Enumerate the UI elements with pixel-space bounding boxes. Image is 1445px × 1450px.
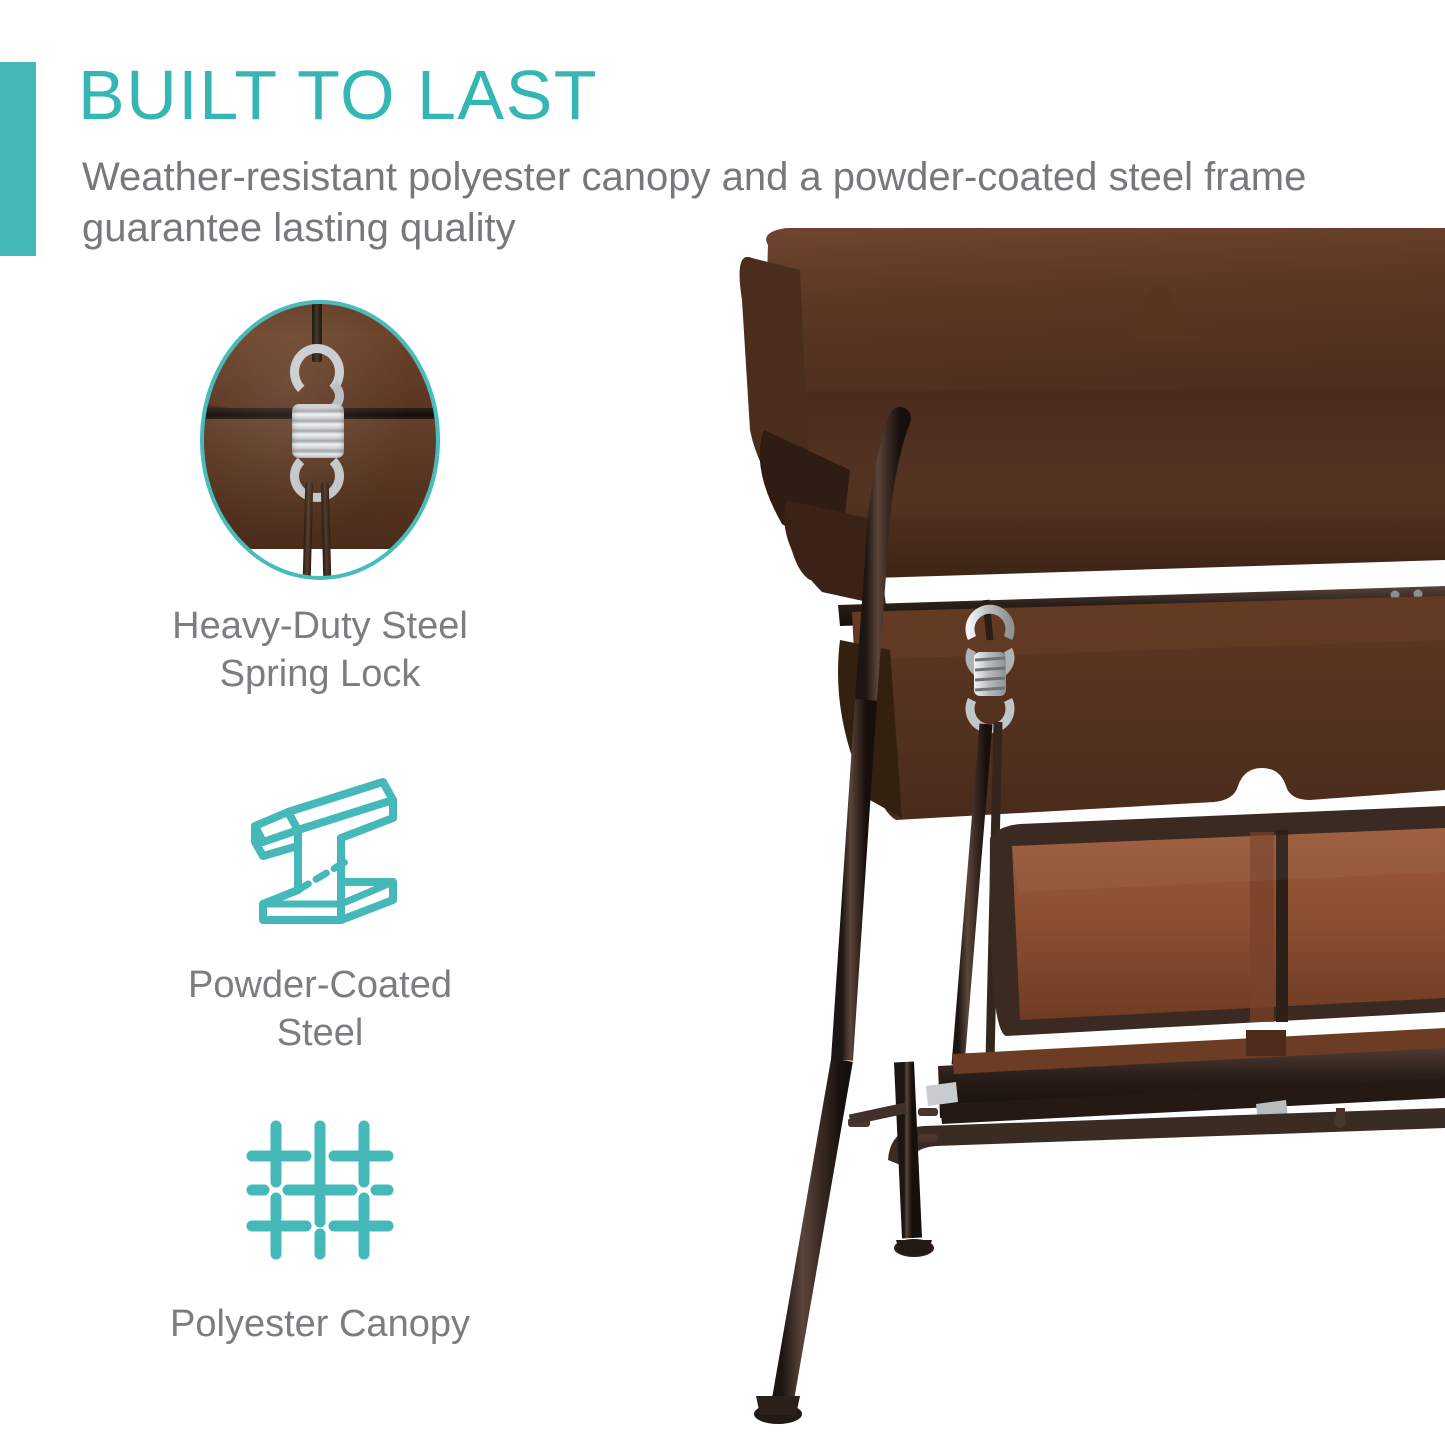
feature-item-spring-lock: Heavy-Duty Steel Spring Lock: [0, 300, 640, 698]
feature-list: Heavy-Duty Steel Spring Lock: [0, 300, 640, 1420]
accent-bar: [0, 62, 36, 256]
feature-item-polyester-canopy: Polyester Canopy: [0, 1120, 640, 1348]
feature-label-powder-coated-steel: Powder-Coated Steel: [0, 961, 640, 1057]
page-title: BUILT TO LAST: [78, 56, 598, 134]
woven-fabric-icon: [0, 1120, 640, 1260]
i-beam-icon: [0, 770, 640, 935]
feature-item-powder-coated-steel: Powder-Coated Steel: [0, 770, 640, 1057]
spring-lock-photo-icon: [0, 300, 640, 580]
product-image-porch-swing: [690, 0, 1445, 1445]
feature-label-polyester-canopy: Polyester Canopy: [0, 1300, 640, 1348]
feature-label-spring-lock: Heavy-Duty Steel Spring Lock: [0, 602, 640, 698]
